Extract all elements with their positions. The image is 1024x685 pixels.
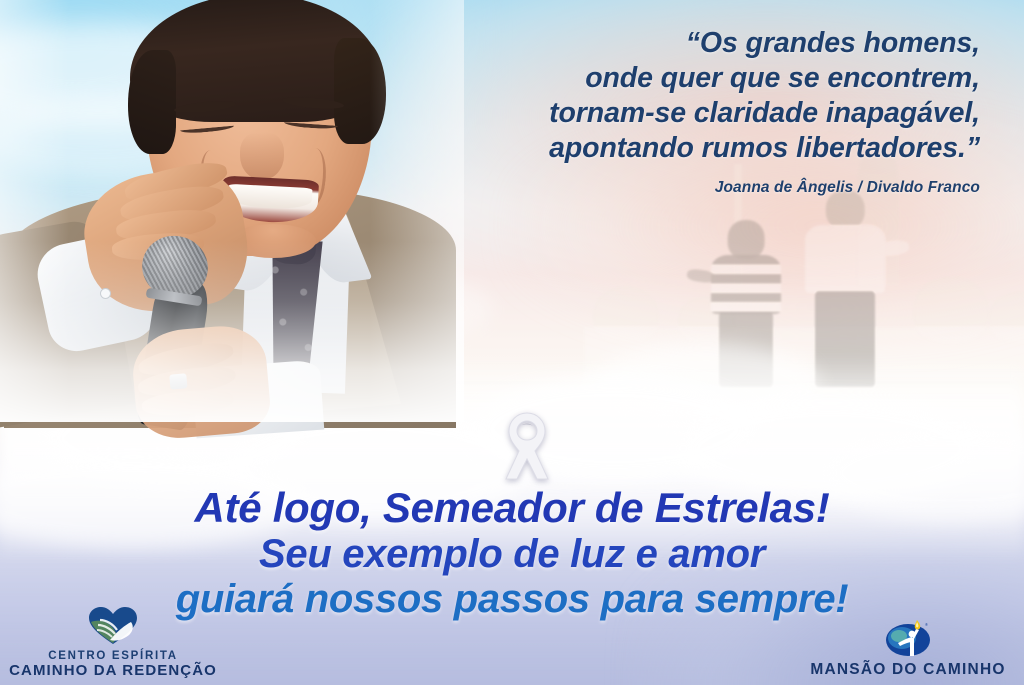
heart-hands-icon [86,606,140,646]
globe-torch-figure-icon: ® [883,616,933,658]
quote-line-4: apontando rumos libertadores.” [420,131,980,166]
logo-right-line-1: MANSÃO DO CAMINHO [810,662,1005,679]
figure-head [728,220,765,258]
quote-line-2: onde quer que se encontrem, [420,61,980,96]
headline-line-2: Seu exemplo de luz e amor [0,532,1024,576]
memorial-poster: “Os grandes homens, onde quer que se enc… [0,0,1024,685]
portrait-photo [0,0,464,422]
quote-line-1: “Os grandes homens, [420,26,980,61]
hair-side-left [128,50,176,154]
white-ribbon-icon [496,409,558,485]
logo-centro-espirita: CENTRO ESPÍRITA CAMINHO DA REDENÇÃO [6,606,220,679]
finger-ring [169,373,187,389]
headline-block: Até logo, Semeador de Estrelas! Seu exem… [0,484,1024,622]
svg-text:®: ® [925,622,928,627]
hand-holding-microphone [130,322,273,441]
quote-line-3: tornam-se claridade inapagável, [420,96,980,131]
figure-torso [805,225,885,292]
logo-left-line-2: CAMINHO DA REDENÇÃO [9,663,217,679]
headline-line-1: Até logo, Semeador de Estrelas! [0,484,1024,532]
nose [240,132,284,180]
figure-arm [878,240,910,257]
hair-side-right [334,38,386,144]
cuff-button [100,288,111,299]
quote-attribution: Joanna de Ângelis / Divaldo Franco [420,179,980,197]
figure-torso [711,255,782,314]
logo-left-line-1: CENTRO ESPÍRITA [9,650,217,662]
quote-block: “Os grandes homens, onde quer que se enc… [420,26,980,197]
logo-right-text: MANSÃO DO CAMINHO [810,662,1005,679]
logo-mansao-do-caminho: ® MANSÃO DO CAMINHO [800,616,1016,679]
logo-left-text: CENTRO ESPÍRITA CAMINHO DA REDENÇÃO [9,650,217,679]
